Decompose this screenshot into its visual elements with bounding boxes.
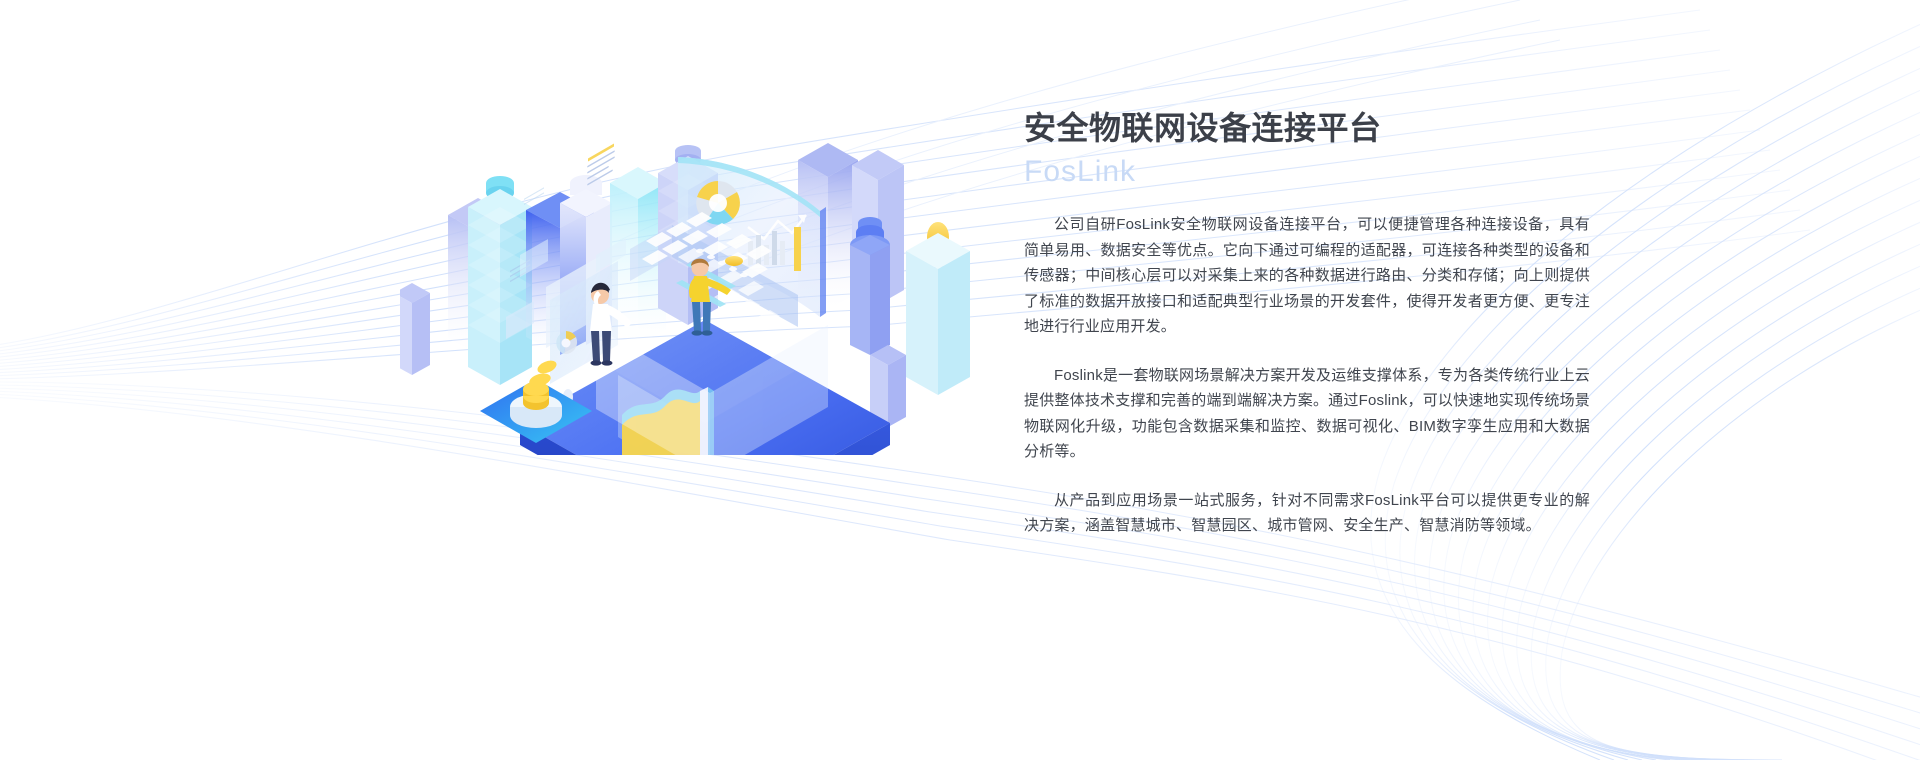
paragraph-2: Foslink是一套物联网场景解决方案开发及运维支撑体系，专为各类传统行业上云提… xyxy=(1024,363,1590,465)
coin-token xyxy=(725,256,743,266)
page-title: 安全物联网设备连接平台 xyxy=(1024,106,1644,150)
product-name: FosLink xyxy=(1024,152,1644,192)
description-body: 公司自研FosLink安全物联网设备连接平台，可以便捷管理各种连接设备，具有简单… xyxy=(1024,212,1590,539)
paragraph-3: 从产品到应用场景一站式服务，针对不同需求FosLink平台可以提供更专业的解决方… xyxy=(1024,488,1590,539)
hero-section: 安全物联网设备连接平台 FosLink 公司自研FosLink安全物联网设备连接… xyxy=(0,0,1920,760)
title-block: 安全物联网设备连接平台 FosLink xyxy=(1024,106,1644,192)
paragraph-1: 公司自研FosLink安全物联网设备连接平台，可以便捷管理各种连接设备，具有简单… xyxy=(1024,212,1590,340)
tower-round-top-right xyxy=(850,217,890,355)
tower-small-right-1 xyxy=(870,345,906,427)
tower-pagoda-cyan xyxy=(468,176,532,385)
coin-pillar xyxy=(906,222,970,395)
isometric-platform-illustration xyxy=(400,55,1000,455)
content-column: 安全物联网设备连接平台 FosLink 公司自研FosLink安全物联网设备连接… xyxy=(1024,0,1644,760)
tower-edge-left xyxy=(400,283,430,375)
